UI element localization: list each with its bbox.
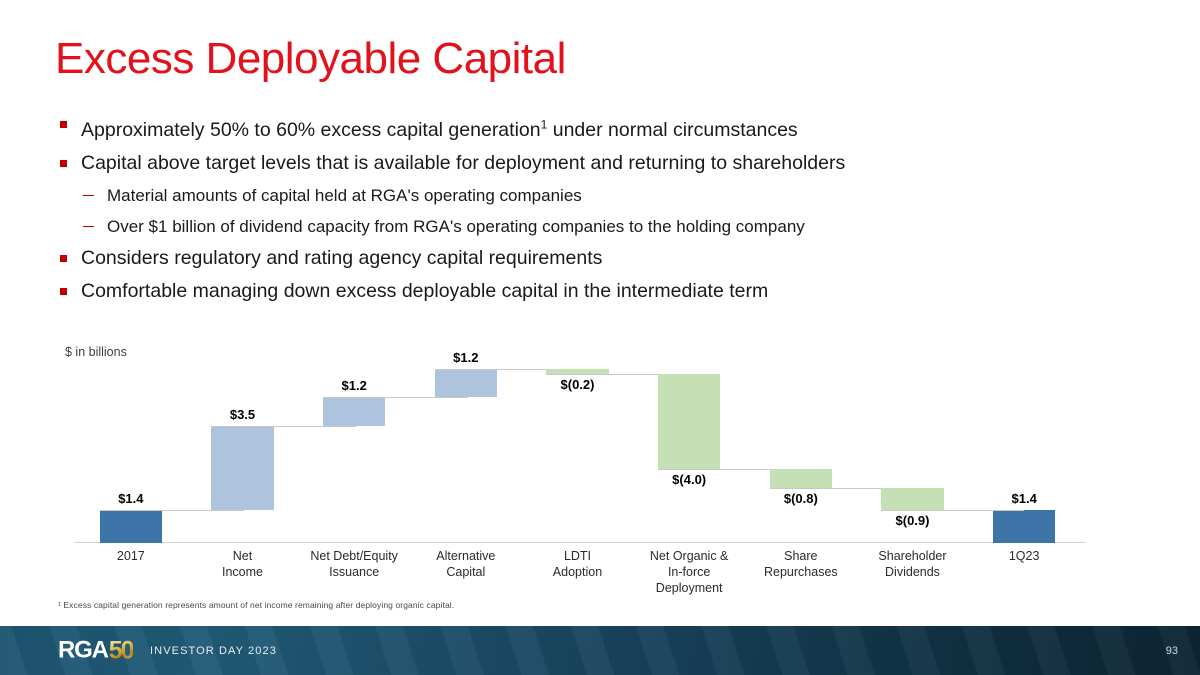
- x-axis-label-line: Shareholder: [848, 548, 976, 564]
- chart-plot-area: $1.4$3.5$1.2$1.2$(0.2)$(4.0)$(0.8)$(0.9)…: [75, 345, 1080, 543]
- x-axis-label-line: In-force: [625, 564, 753, 580]
- x-axis-labels: 2017NetIncomeNet Debt/EquityIssuanceAlte…: [75, 548, 1080, 604]
- sub-bullet-text: Over $1 billion of dividend capacity fro…: [107, 217, 805, 236]
- sub-bullet-item: Over $1 billion of dividend capacity fro…: [55, 211, 1145, 242]
- x-axis-label-line: Capital: [402, 564, 530, 580]
- bar-value-label: $(0.2): [511, 377, 645, 392]
- bullet-text: Comfortable managing down excess deploya…: [81, 280, 768, 302]
- x-axis-line: [75, 542, 1085, 544]
- bullet-text: Considers regulatory and rating agency c…: [81, 247, 602, 269]
- x-axis-label: LDTIAdoption: [513, 548, 641, 580]
- x-axis-label-line: Adoption: [513, 564, 641, 580]
- bar-value-label: $(0.8): [734, 491, 868, 506]
- dash-icon: [83, 226, 94, 228]
- x-axis-label: 1Q23: [960, 548, 1088, 564]
- page-number: 93: [1166, 645, 1178, 657]
- x-axis-label: AlternativeCapital: [402, 548, 530, 580]
- rga-wordmark: RGA: [58, 637, 108, 665]
- x-axis-label-line: LDTI: [513, 548, 641, 564]
- bullet-item: Approximately 50% to 60% excess capital …: [55, 108, 1145, 147]
- x-axis-label: NetIncome: [178, 548, 306, 580]
- x-axis-label-line: Net: [178, 548, 306, 564]
- dash-icon: [83, 195, 94, 197]
- waterfall-bar: [435, 369, 498, 398]
- bullet-list: Approximately 50% to 60% excess capital …: [55, 108, 1145, 308]
- x-axis-label-line: 2017: [67, 548, 195, 564]
- waterfall-bar: [658, 374, 721, 469]
- waterfall-bar: [100, 510, 163, 543]
- bar-value-label: $1.2: [399, 350, 533, 365]
- waterfall-connector: [100, 510, 245, 511]
- bullet-square-icon: [60, 255, 67, 262]
- bullet-text: Approximately 50% to 60% excess capital …: [81, 119, 798, 141]
- page-title: Excess Deployable Capital: [55, 36, 566, 82]
- x-axis-label-line: Issuance: [290, 564, 418, 580]
- bar-value-label: $(0.9): [846, 513, 980, 528]
- waterfall-connector: [881, 510, 1024, 511]
- x-axis-label-line: Share: [737, 548, 865, 564]
- x-axis-label-line: Alternative: [402, 548, 530, 564]
- anniversary-50-icon: 50: [109, 636, 133, 665]
- bar-value-label: $1.2: [287, 378, 421, 393]
- waterfall-connector: [211, 426, 356, 427]
- waterfall-bar: [323, 397, 386, 426]
- sub-bullet-item: Material amounts of capital held at RGA'…: [55, 180, 1145, 211]
- footnote: ¹ Excess capital generation represents a…: [58, 600, 454, 610]
- bullet-square-icon: [60, 121, 67, 128]
- waterfall-bar: [770, 469, 833, 488]
- bullet-item: Comfortable managing down excess deploya…: [55, 275, 1145, 308]
- x-axis-label-line: Repurchases: [737, 564, 865, 580]
- waterfall-chart: $ in billions $1.4$3.5$1.2$1.2$(0.2)$(4.…: [55, 335, 1080, 595]
- bar-value-label: $1.4: [957, 491, 1091, 506]
- bullet-text: Capital above target levels that is avai…: [81, 152, 845, 174]
- x-axis-label-line: Deployment: [625, 580, 753, 596]
- rga-logo: RGA 50: [58, 636, 133, 665]
- bullet-square-icon: [60, 160, 67, 167]
- x-axis-label-line: 1Q23: [960, 548, 1088, 564]
- bullet-square-icon: [60, 288, 67, 295]
- slide-footer: RGA 50 INVESTOR DAY 2023 93: [0, 626, 1200, 675]
- waterfall-connector: [323, 397, 468, 398]
- footer-event-label: INVESTOR DAY 2023: [150, 645, 277, 657]
- x-axis-label: ShareholderDividends: [848, 548, 976, 580]
- waterfall-bar: [881, 488, 944, 509]
- bar-value-label: $3.5: [176, 407, 310, 422]
- bar-value-label: $(4.0): [622, 472, 756, 487]
- waterfall-bar: [211, 426, 274, 509]
- x-axis-label-line: Net Debt/Equity: [290, 548, 418, 564]
- x-axis-label: ShareRepurchases: [737, 548, 865, 580]
- x-axis-label: Net Debt/EquityIssuance: [290, 548, 418, 580]
- bullet-item: Considers regulatory and rating agency c…: [55, 242, 1145, 275]
- x-axis-label-line: Dividends: [848, 564, 976, 580]
- x-axis-label: Net Organic &In-forceDeployment: [625, 548, 753, 596]
- x-axis-label-line: Net Organic &: [625, 548, 753, 564]
- x-axis-label-line: Income: [178, 564, 306, 580]
- bar-value-label: $1.4: [64, 491, 198, 506]
- x-axis-label: 2017: [67, 548, 195, 564]
- waterfall-bar: [993, 510, 1056, 543]
- bullet-item: Capital above target levels that is avai…: [55, 147, 1145, 180]
- sub-bullet-text: Material amounts of capital held at RGA'…: [107, 186, 582, 205]
